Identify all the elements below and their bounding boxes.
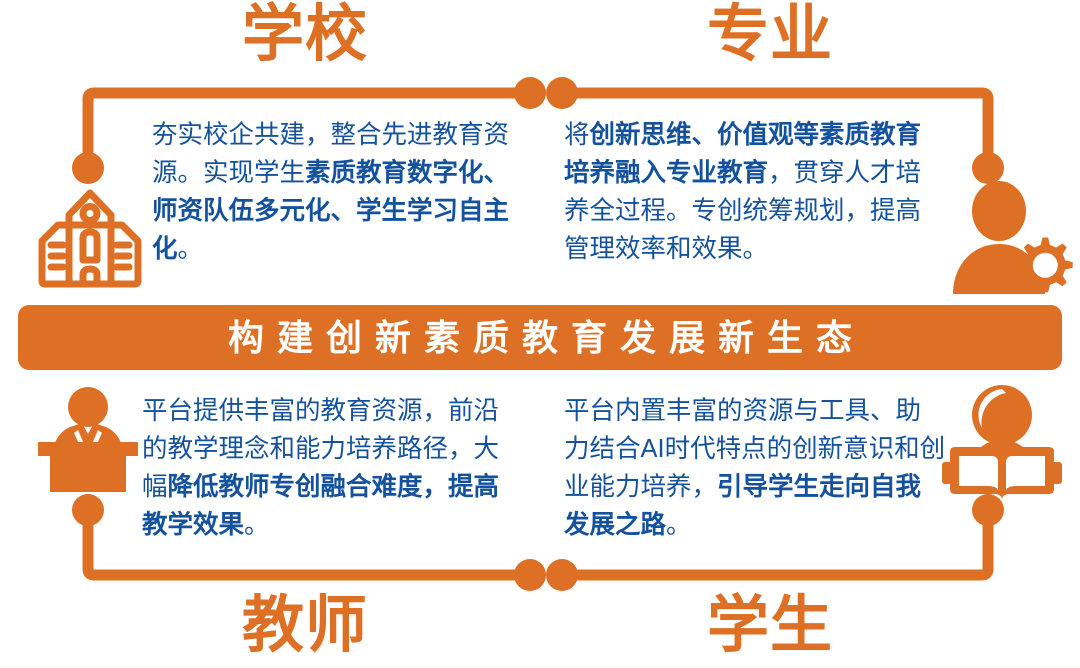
connector-dot-bottom-left [72, 494, 104, 526]
school-building-icon [32, 182, 148, 294]
connector-dot-top-center-right [546, 77, 578, 109]
teacher-podium-icon [26, 386, 150, 498]
quadrant-title-student: 学生 [645, 595, 895, 657]
quadrant-text-teacher: 平台提供丰富的教育资源，前沿的教学理念和能力培养路径，大幅降低教师专创融合难度，… [142, 392, 524, 544]
body-text: 。 [178, 235, 204, 263]
center-banner: 构建创新素质教育发展新生态 [18, 305, 1062, 370]
body-text: 。 [244, 511, 270, 539]
quadrant-title-major: 专业 [645, 4, 895, 66]
emphasis-text: 降低教师专创融合难度，提高教学效果 [142, 473, 499, 539]
connector-dot-bottom-center-left [514, 559, 546, 591]
infographic-canvas: 学校 专业 教师 学生 夯实校企共建，整合先进教育资源。实现学生素质教育数字化、… [0, 0, 1080, 668]
connector-dot-top-left [72, 152, 104, 184]
person-gear-icon [952, 176, 1074, 296]
body-text: 将 [564, 121, 590, 149]
body-text: 。 [666, 511, 692, 539]
student-book-icon [938, 382, 1066, 508]
quadrant-text-major: 将创新思维、价值观等素质教育培养融入专业教育，贯穿人才培养全过程。专创统筹规划，… [564, 116, 936, 268]
quadrant-text-student: 平台内置丰富的资源与工具、助力结合AI时代特点的创新意识和创业能力培养，引导学生… [564, 392, 946, 544]
quadrant-title-school: 学校 [180, 4, 430, 66]
quadrant-text-school: 夯实校企共建，整合先进教育资源。实现学生素质教育数字化、师资队伍多元化、学生学习… [152, 116, 524, 268]
center-banner-text: 构建创新素质教育发展新生态 [215, 320, 865, 356]
connector-dot-bottom-center-right [546, 559, 578, 591]
quadrant-title-teacher: 教师 [180, 595, 430, 657]
connector-dot-top-center-left [514, 77, 546, 109]
